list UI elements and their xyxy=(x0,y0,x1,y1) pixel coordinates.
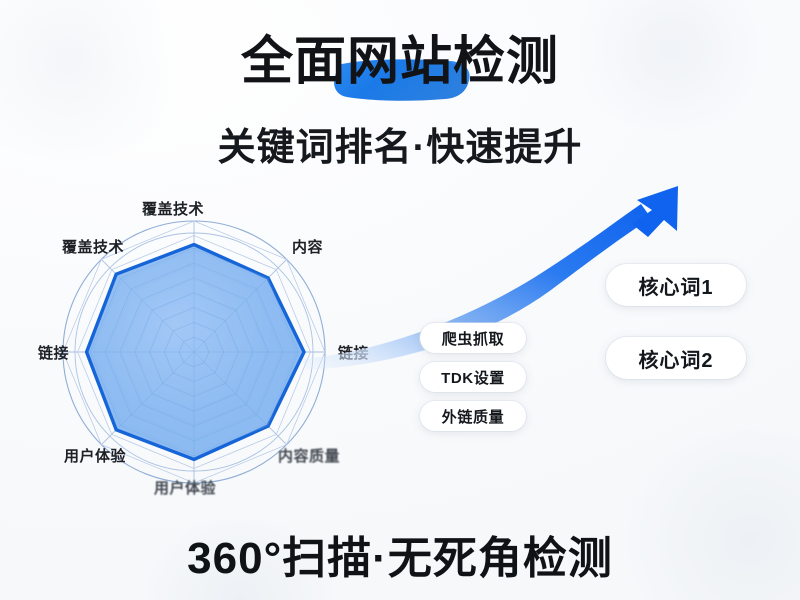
radar-chart: 覆盖技术 内容 链接 内容质量 用户体验 用户体验 链接 覆盖技术 xyxy=(38,192,408,517)
tag-pill-backlink[interactable]: 外链质量 xyxy=(420,401,526,431)
tag-pill-label: TDK设置 xyxy=(441,367,505,388)
radar-axis-label-left: 链接 xyxy=(38,342,69,363)
tag-pill-label: 爬虫抓取 xyxy=(442,328,504,349)
radar-axis-label-right: 链接 xyxy=(338,342,369,363)
radar-axis-label-top: 覆盖技术 xyxy=(142,198,204,219)
poster-canvas: 全面网站检测 关键词排名·快速提升 xyxy=(0,0,800,600)
title-highlight-text: 网站 xyxy=(347,33,453,91)
keyword-pill-label: 核心词1 xyxy=(638,271,713,300)
tag-pill-crawl[interactable]: 爬虫抓取 xyxy=(420,323,526,353)
keyword-pill-2[interactable]: 核心词2 xyxy=(606,337,746,379)
page-title: 全面网站检测 xyxy=(241,34,559,90)
tag-pill-tdk[interactable]: TDK设置 xyxy=(420,362,526,392)
radar-axis-label-top-right: 内容 xyxy=(292,236,323,257)
tag-pill-label: 外链质量 xyxy=(442,406,504,427)
bottom-tagline: 360°扫描·无死角检测 xyxy=(0,522,800,586)
radar-series-polygon xyxy=(87,245,304,460)
radar-axis-label-bottom-right: 内容质量 xyxy=(278,445,340,466)
radar-axis-label-bottom-left: 用户体验 xyxy=(64,445,126,466)
page-subtitle: 关键词排名·快速提升 xyxy=(0,116,800,171)
keyword-pill-label: 核心词2 xyxy=(638,344,713,373)
keyword-pill-1[interactable]: 核心词1 xyxy=(606,264,746,306)
radar-axis-label-top-left: 覆盖技术 xyxy=(62,236,124,257)
headline-block: 全面网站检测 xyxy=(0,34,800,90)
radar-axis-label-bottom: 用户体验 xyxy=(154,477,216,498)
